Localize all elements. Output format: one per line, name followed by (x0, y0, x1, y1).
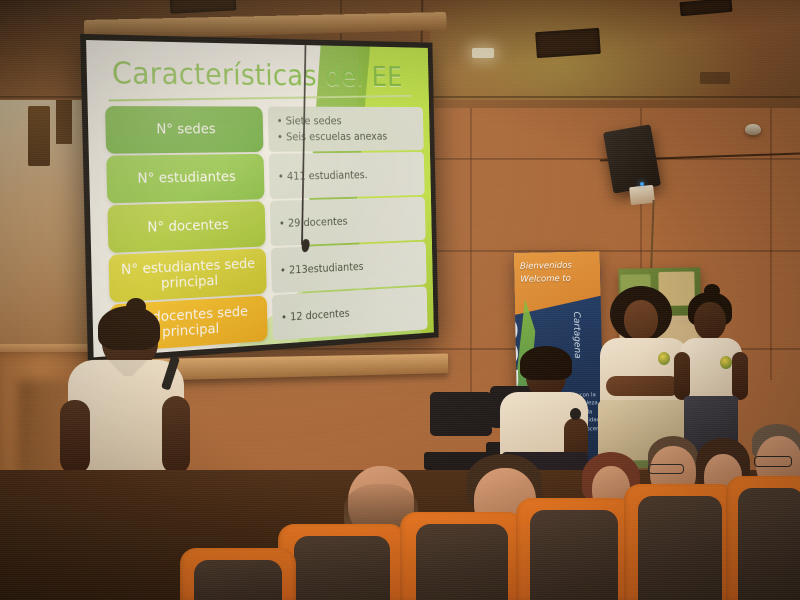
auditorium-seat[interactable] (278, 524, 406, 600)
row-values: 29 docentes (270, 197, 426, 246)
panelist-2-arm (606, 376, 680, 396)
speaker-led-indicator (640, 182, 644, 186)
speaker-mount (629, 185, 655, 205)
row-label: N° estudiantes sede principal (109, 248, 267, 302)
security-camera-icon (745, 124, 761, 135)
auditorium-seat[interactable] (400, 512, 524, 600)
slide-title: Características del EE (112, 56, 403, 93)
banner-welcome-text: Bienvenidos Welcome to (520, 259, 597, 286)
auditorium-seat[interactable] (516, 498, 634, 600)
slide-row: N° estudiantes 411 estudiantes. (106, 152, 424, 203)
row-values: 411 estudiantes. (269, 152, 425, 199)
ceiling-downlight (472, 48, 494, 58)
row-value: 29 docentes (279, 211, 418, 231)
auditorium-seat[interactable] (726, 476, 800, 600)
row-values: Siete sedes Seis escuelas anexas (268, 107, 424, 152)
row-values: 12 docentes (272, 286, 428, 340)
row-value: 213estudiantes (280, 256, 419, 278)
row-values: 213estudiantes (271, 242, 427, 294)
ceiling-vent (535, 28, 601, 58)
slide-row: N° sedes Siete sedes Seis escuelas anexa… (105, 106, 424, 154)
panelist-3-arm-left (674, 352, 690, 400)
school-crest-icon (658, 352, 670, 365)
eyeglasses-icon (648, 464, 684, 474)
row-label: N° estudiantes (106, 154, 264, 204)
panelist-2-head (624, 300, 658, 340)
ceiling-vent (170, 0, 237, 14)
auditorium-seat[interactable] (180, 548, 296, 600)
panelist-3-hair-bun (704, 284, 720, 298)
row-value: 12 docentes (281, 301, 420, 325)
row-value: 411 estudiantes. (278, 166, 417, 184)
ceiling-downlight (700, 72, 730, 84)
school-crest-icon (720, 356, 732, 369)
screen-bracket (28, 106, 50, 166)
screen-bracket (56, 100, 72, 144)
presenter-arm-right (162, 396, 190, 474)
row-value: Seis escuelas anexas (277, 129, 416, 145)
presenter-hair-bun (126, 298, 146, 316)
panelist-3-arm-right (732, 352, 748, 400)
row-label: N° docentes (107, 201, 265, 253)
auditorium-scene: Características del EE N° sedes Siete se… (0, 0, 800, 600)
microphone-icon (570, 408, 581, 420)
eyeglasses-icon (754, 456, 792, 467)
row-label: N° sedes (105, 106, 263, 154)
banner-welcome-en: Welcome to (520, 272, 596, 286)
auditorium-seat[interactable] (624, 484, 736, 600)
presenter-arm-left (60, 400, 90, 474)
panelist-3-head (694, 302, 726, 340)
panelist-1-hair (520, 346, 572, 380)
row-value: Siete sedes (277, 113, 416, 129)
